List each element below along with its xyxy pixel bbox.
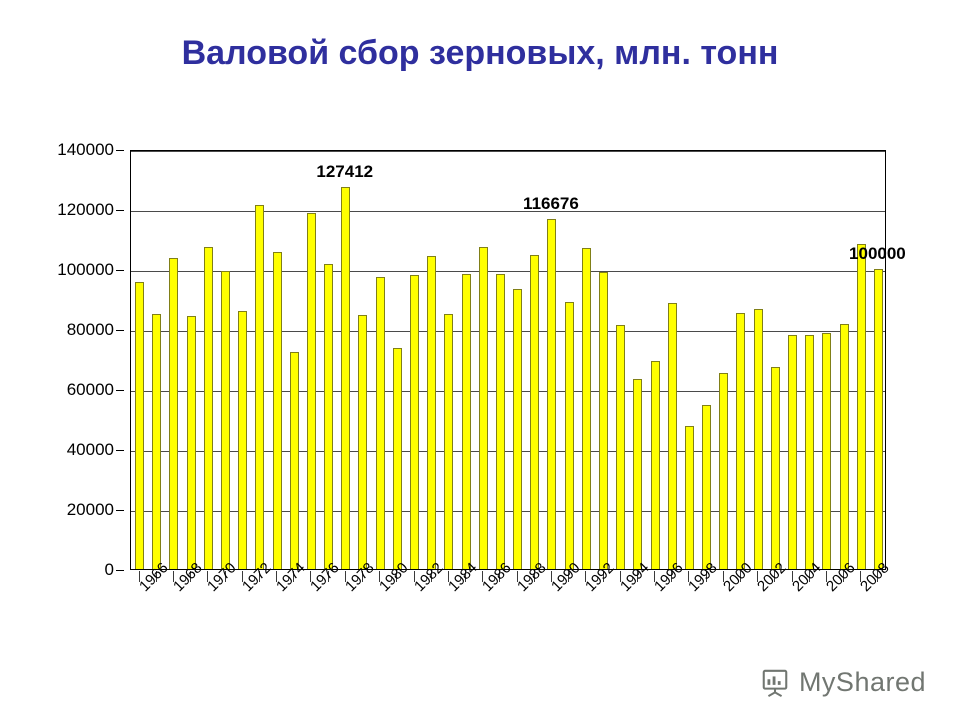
- bar: [410, 275, 419, 569]
- y-tick-mark: [116, 330, 124, 331]
- bar: [187, 316, 196, 569]
- bar: [393, 348, 402, 569]
- bar: [633, 379, 642, 569]
- bar: [358, 315, 367, 569]
- bar-value-label: 116676: [523, 194, 579, 214]
- y-tick-label: 20000: [67, 500, 114, 520]
- y-tick-label: 60000: [67, 380, 114, 400]
- y-tick-label: 80000: [67, 320, 114, 340]
- bar: [376, 277, 385, 569]
- bar: [462, 274, 471, 569]
- bar: [771, 367, 780, 569]
- bar: [496, 274, 505, 570]
- bar: [444, 314, 453, 569]
- bar: [255, 205, 264, 570]
- bar: [307, 213, 316, 569]
- bar: [874, 269, 883, 569]
- bar: [341, 187, 350, 569]
- bar: [685, 426, 694, 569]
- y-axis-labels: 020000400006000080000100000120000140000: [0, 150, 124, 570]
- bar-value-label: 127412: [316, 162, 373, 182]
- y-tick-mark: [116, 510, 124, 511]
- bar: [238, 311, 247, 569]
- plot-area: [130, 150, 886, 570]
- bar: [822, 333, 831, 569]
- bar: [204, 247, 213, 569]
- y-tick-label: 100000: [57, 260, 114, 280]
- bar: [788, 335, 797, 569]
- bar: [221, 271, 230, 569]
- bar: [169, 258, 178, 569]
- bar: [152, 314, 161, 569]
- bar: [736, 313, 745, 569]
- bar: [273, 252, 282, 569]
- bar: [513, 289, 522, 569]
- bar: [840, 324, 849, 569]
- bar: [668, 303, 677, 569]
- y-tick-mark: [116, 150, 124, 151]
- bar: [530, 255, 539, 569]
- bar-value-label: 100000: [849, 244, 906, 264]
- bar: [702, 405, 711, 569]
- y-tick-mark: [116, 570, 124, 571]
- bar: [754, 309, 763, 569]
- bar: [290, 352, 299, 570]
- myshared-watermark: MyShared: [760, 667, 926, 698]
- bar: [599, 272, 608, 569]
- bar: [565, 302, 574, 569]
- y-tick-label: 0: [105, 560, 114, 580]
- bar: [324, 264, 333, 569]
- presentation-chart-icon: [760, 668, 790, 698]
- y-tick-mark: [116, 390, 124, 391]
- bar: [719, 373, 728, 570]
- bar-series: [131, 151, 885, 569]
- bar: [857, 244, 866, 569]
- y-tick-mark: [116, 270, 124, 271]
- y-tick-mark: [116, 210, 124, 211]
- y-tick-label: 140000: [57, 140, 114, 160]
- y-tick-mark: [116, 450, 124, 451]
- y-tick-label: 40000: [67, 440, 114, 460]
- bar: [135, 282, 144, 569]
- bar: [651, 361, 660, 569]
- bar: [547, 219, 556, 569]
- y-tick-label: 120000: [57, 200, 114, 220]
- bar: [427, 256, 436, 569]
- bar: [479, 247, 488, 570]
- bar-chart: 020000400006000080000100000120000140000 …: [0, 0, 960, 720]
- bar: [616, 325, 625, 569]
- bar: [805, 335, 814, 569]
- bar: [582, 248, 591, 569]
- x-axis-labels: 1966196819701972197419761978198019821984…: [130, 583, 886, 653]
- watermark-label: MyShared: [799, 667, 926, 698]
